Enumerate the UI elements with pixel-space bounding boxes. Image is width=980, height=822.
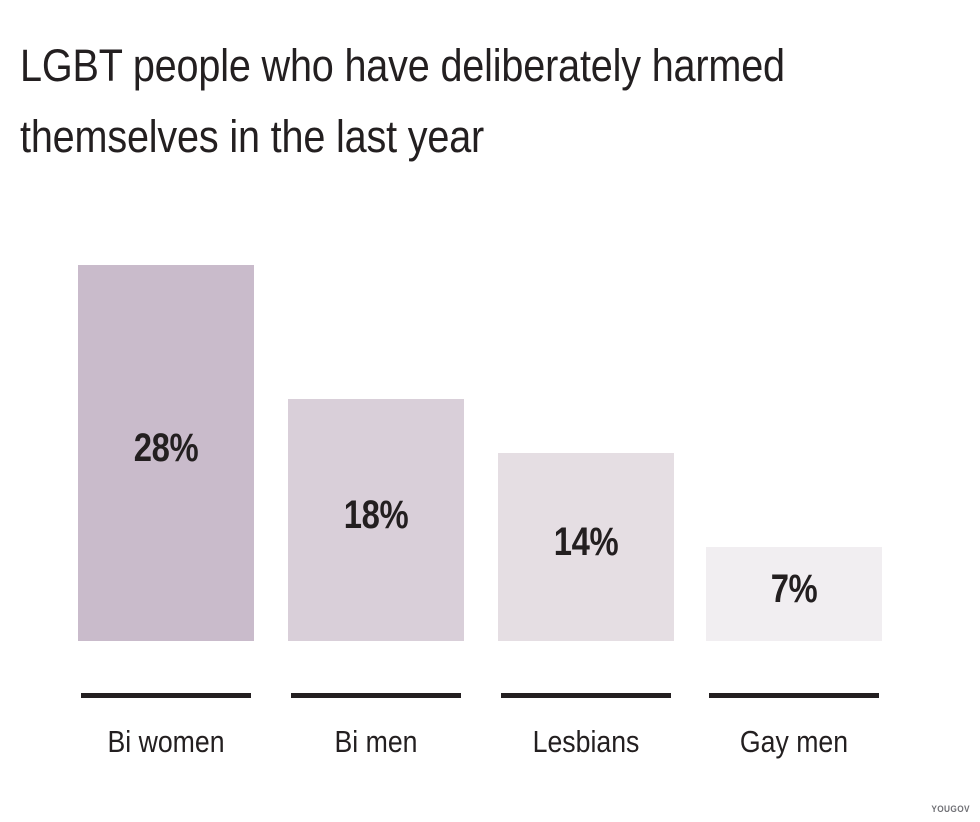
chart-figure: LGBT people who have deliberately harmed… bbox=[0, 0, 980, 822]
bar-value-label: 14% bbox=[514, 520, 658, 565]
bar-value-label: 7% bbox=[722, 567, 866, 612]
category-label-bi-women: Bi women bbox=[78, 724, 253, 760]
category-label-lesbians: Lesbians bbox=[498, 724, 673, 760]
yougov-logo: YouGov bbox=[931, 804, 970, 814]
bar-group-bi-men: 18% Bi men bbox=[288, 250, 464, 790]
bar-group-lesbians: 14% Lesbians bbox=[498, 250, 674, 790]
plot-area: 28% Bi women 18% Bi men 14% Lesbians 7% … bbox=[78, 250, 898, 790]
chart-title-line-2: themselves in the last year bbox=[20, 101, 838, 172]
category-rule bbox=[709, 693, 879, 698]
category-rule bbox=[501, 693, 671, 698]
category-rule bbox=[81, 693, 251, 698]
bar-bi-women[interactable]: 28% bbox=[78, 265, 254, 641]
bar-gay-men[interactable]: 7% bbox=[706, 547, 882, 641]
bar-group-gay-men: 7% Gay men bbox=[706, 250, 882, 790]
bar-group-bi-women: 28% Bi women bbox=[78, 250, 254, 790]
category-rule bbox=[291, 693, 461, 698]
bar-lesbians[interactable]: 14% bbox=[498, 453, 674, 641]
category-label-gay-men: Gay men bbox=[706, 724, 881, 760]
chart-title-line-1: LGBT people who have deliberately harmed bbox=[20, 30, 838, 101]
chart-title: LGBT people who have deliberately harmed… bbox=[20, 30, 838, 172]
bar-value-label: 18% bbox=[304, 493, 448, 538]
bar-bi-men[interactable]: 18% bbox=[288, 399, 464, 641]
bar-value-label: 28% bbox=[94, 426, 238, 471]
category-label-bi-men: Bi men bbox=[288, 724, 463, 760]
